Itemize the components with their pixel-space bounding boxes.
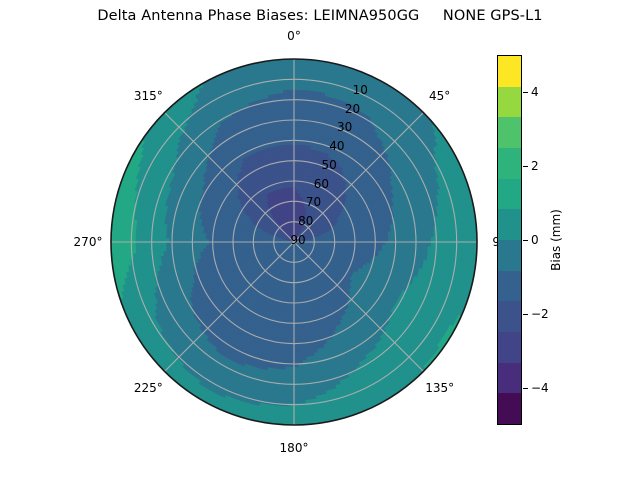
radial-tick-label-30: 30 xyxy=(337,120,352,134)
angular-tick-label-315: 315° xyxy=(134,89,163,103)
colorbar-band xyxy=(498,148,521,179)
colorbar-band xyxy=(498,179,521,210)
colorbar-tick xyxy=(523,240,528,241)
colorbar-tick-label: 2 xyxy=(531,159,539,173)
colorbar-band xyxy=(498,271,521,302)
radial-tick-label-50: 50 xyxy=(321,158,336,172)
radial-tick-label-80: 80 xyxy=(298,214,313,228)
radial-tick-label-70: 70 xyxy=(306,195,321,209)
colorbar-band xyxy=(498,117,521,148)
colorbar[interactable] xyxy=(497,55,522,425)
colorbar-tick-label: −4 xyxy=(531,381,549,395)
colorbar-band xyxy=(498,87,521,118)
colorbar-tick xyxy=(523,388,528,389)
angular-tick-label-45: 45° xyxy=(429,89,450,103)
colorbar-band xyxy=(498,301,521,332)
radial-tick-label-10: 10 xyxy=(353,83,368,97)
colorbar-tick xyxy=(523,314,528,315)
radial-tick-label-90: 90 xyxy=(290,233,305,247)
angular-tick-label-0: 0° xyxy=(287,29,301,43)
angular-tick-label-270: 270° xyxy=(74,235,103,249)
radial-tick-label-20: 20 xyxy=(345,102,360,116)
colorbar-band xyxy=(498,209,521,240)
colorbar-tick xyxy=(523,166,528,167)
colorbar-tick-label: −2 xyxy=(531,307,549,321)
figure-canvas: Delta Antenna Phase Biases: LEIMNA950GG … xyxy=(0,0,640,480)
colorbar-band xyxy=(498,393,521,424)
radial-tick-label-40: 40 xyxy=(329,139,344,153)
colorbar-tick-label: 4 xyxy=(531,85,539,99)
colorbar-band xyxy=(498,332,521,363)
colorbar-tick xyxy=(523,92,528,93)
angular-tick-label-225: 225° xyxy=(134,381,163,395)
colorbar-band xyxy=(498,56,521,87)
colorbar-band xyxy=(498,363,521,394)
colorbar-axis-label: Bias (mm) xyxy=(549,209,563,271)
angular-tick-label-135: 135° xyxy=(425,381,454,395)
colorbar-tick-label: 0 xyxy=(531,233,539,247)
colorbar-band xyxy=(498,240,521,271)
angular-tick-label-180: 180° xyxy=(280,441,309,455)
radial-tick-label-60: 60 xyxy=(314,177,329,191)
